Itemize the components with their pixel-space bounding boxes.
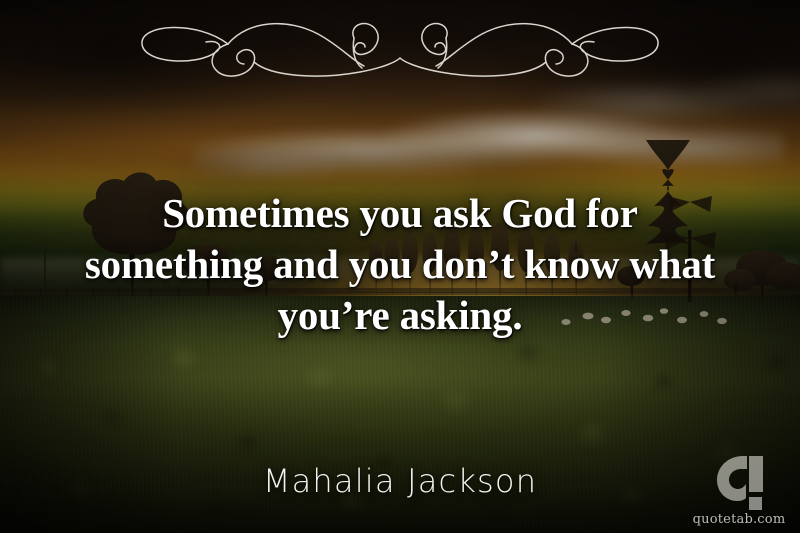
quote-line-3: you’re asking. [28,290,772,341]
quote-image-card: Sometimes you ask God for something and … [0,0,800,533]
overlay-content: Sometimes you ask God for something and … [0,0,800,533]
quote-line-1: Sometimes you ask God for [28,188,772,239]
quotetab-site-label: quotetab.com [693,512,786,527]
quotetab-q-icon [713,454,765,510]
calligraphic-flourish-icon [120,14,680,80]
quote-text: Sometimes you ask God for something and … [0,188,800,341]
ornament-container [0,14,800,80]
author-name: Mahalia Jackson [0,462,800,500]
quotetab-logo[interactable]: quotetab.com [691,454,787,527]
quote-line-2: something and you don’t know what [28,239,772,290]
